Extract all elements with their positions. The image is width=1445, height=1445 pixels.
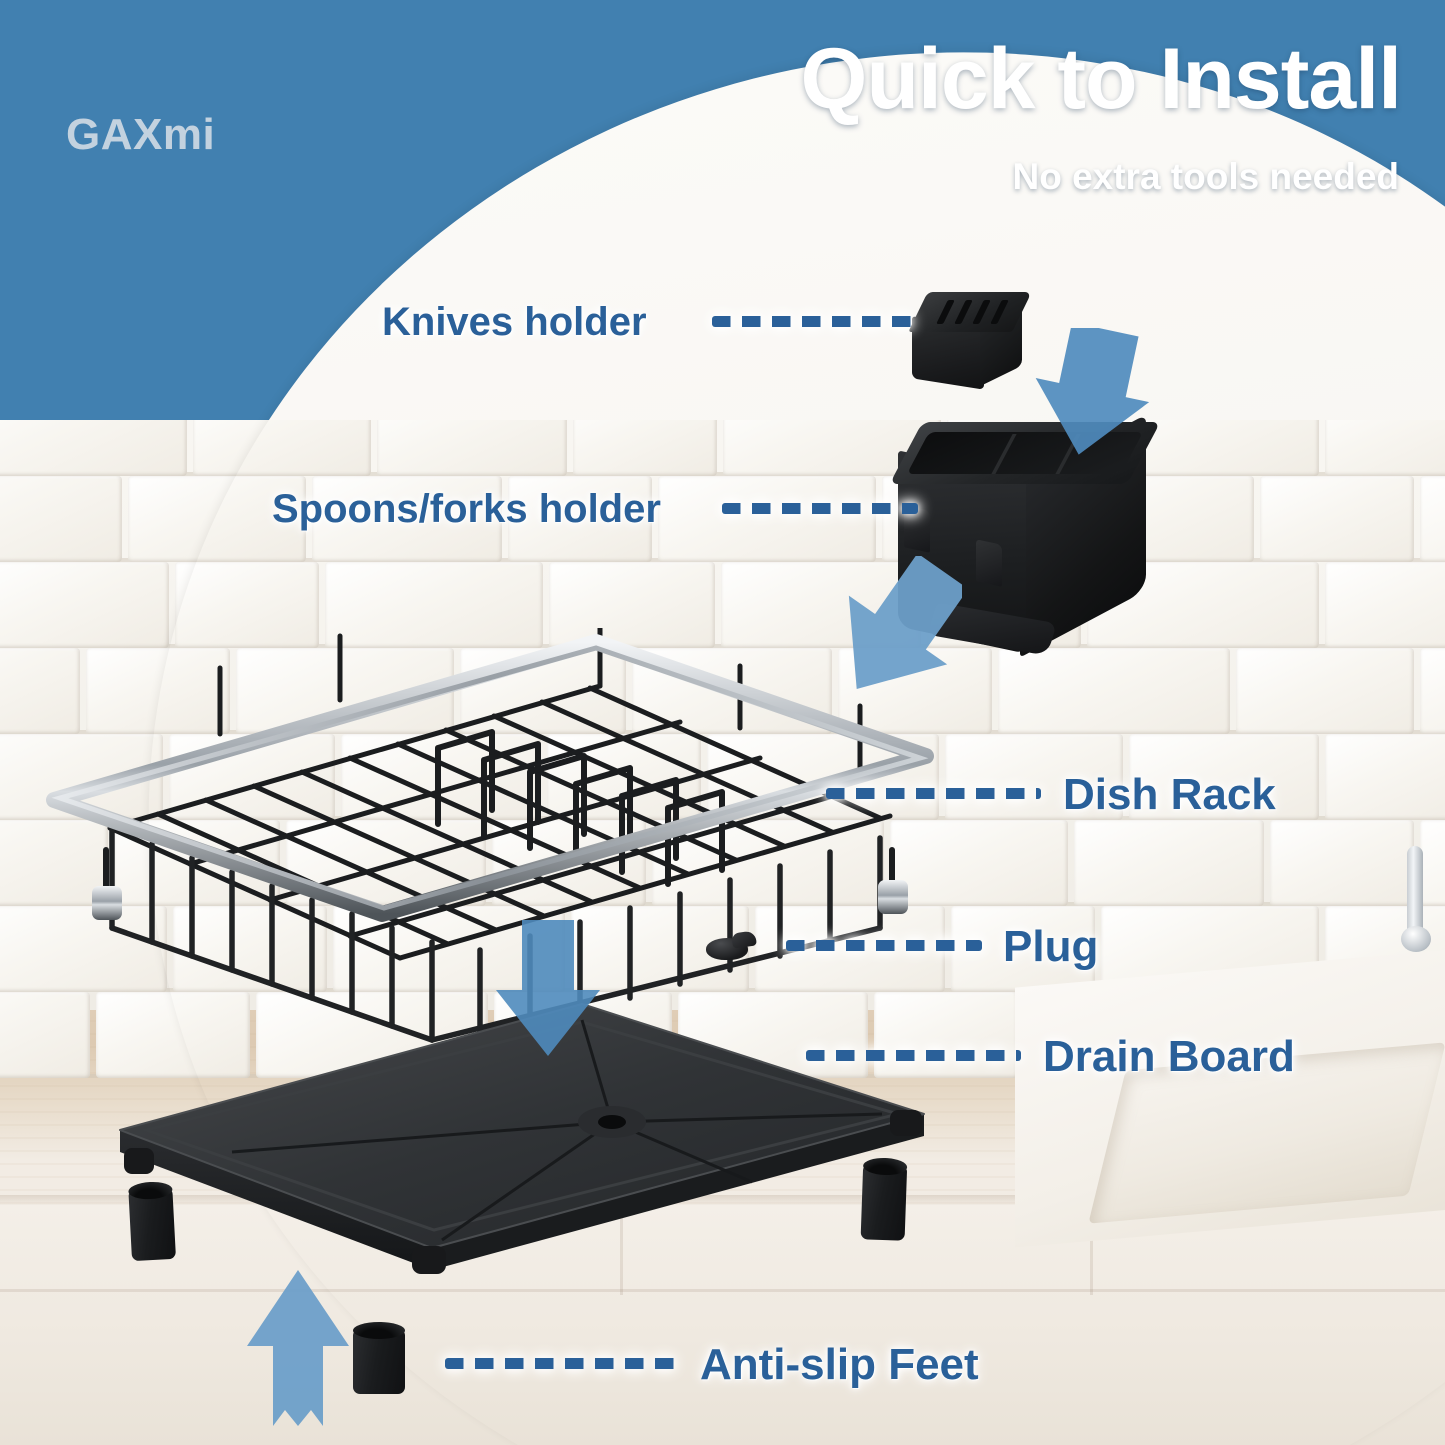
anti-slip-foot-lip: [353, 1322, 405, 1339]
part-anti-slip-foot: [353, 1322, 405, 1394]
leader-line-anti-slip-feet: [445, 1358, 678, 1369]
callout-label-knives-holder: Knives holder: [382, 300, 647, 345]
page-title: Quick to Install: [801, 36, 1401, 122]
callout-label-spoons-forks-holder: Spoons/forks holder: [272, 487, 661, 532]
part-anti-slip-foot: [861, 1157, 908, 1240]
leader-line-knives-holder: [712, 316, 917, 327]
callout-label-drain-board: Drain Board: [1043, 1032, 1295, 1082]
part-knives-holder: [912, 292, 1024, 388]
callout-label-plug: Plug: [1003, 922, 1098, 972]
arrow-rack-onto-board: [488, 920, 608, 1060]
faucet-head-icon: [1401, 926, 1431, 952]
infographic-canvas: Quick to Install No extra tools needed G…: [0, 0, 1445, 1445]
brand-logo: GAXmi: [66, 110, 215, 160]
plug-tab: [731, 930, 757, 948]
callout-label-anti-slip-feet: Anti-slip Feet: [700, 1340, 979, 1390]
anti-slip-foot-body: [861, 1165, 908, 1240]
leader-line-spoons-forks-holder: [722, 503, 918, 514]
caddy-hook: [976, 539, 1002, 587]
part-anti-slip-foot: [128, 1181, 176, 1261]
leader-line-plug: [786, 940, 982, 951]
knives-holder-top: [908, 292, 1032, 332]
page-subtitle: No extra tools needed: [1012, 156, 1399, 198]
leader-line-drain-board: [806, 1050, 1021, 1061]
callout-label-dish-rack: Dish Rack: [1063, 770, 1276, 820]
anti-slip-foot-body: [128, 1189, 176, 1261]
arrow-knives-into-caddy: [1032, 328, 1152, 458]
part-plug: [706, 932, 758, 966]
arrow-feet-into-board: [243, 1268, 353, 1428]
leader-line-dish-rack: [826, 788, 1041, 799]
arrow-caddy-onto-rack: [832, 556, 962, 706]
anti-slip-foot-body: [353, 1330, 405, 1394]
